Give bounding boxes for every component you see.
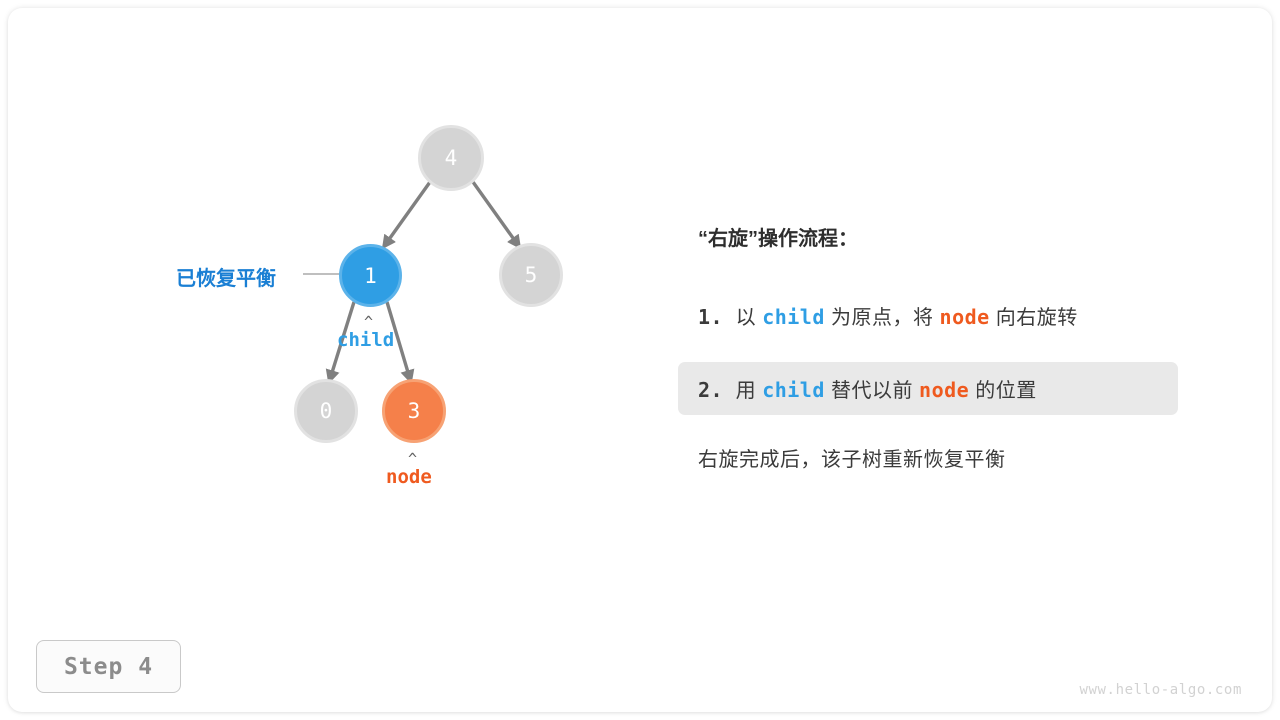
tree-node-0-value: 0 [320,399,333,423]
screenshot-canvas: 4 5 1 0 3 已恢复平衡 ^ child ^ node “右旋”操作流程：… [0,0,1280,720]
tree-node-5-value: 5 [525,263,538,287]
tree-node-3-value: 3 [408,399,421,423]
tree-node-1-value: 1 [364,264,377,288]
step-item-1-part-2: child [762,305,825,329]
balanced-annotation-label: 已恢复平衡 [176,262,276,291]
tree-node-1[interactable]: 1 [339,244,402,307]
tree-node-3[interactable]: 3 [382,379,446,443]
step-badge-label: Step 4 [64,654,153,680]
explanation-panel: “右旋”操作流程： 1. 以 child 为原点，将 node 向右旋转2. 用… [678,222,1178,472]
tree-node-4-value: 4 [445,146,458,170]
step-item-1: 1. 以 child 为原点，将 node 向右旋转 [678,289,1178,342]
watermark: www.hello-algo.com [1079,682,1242,698]
child-pointer-label: child [337,329,394,351]
step-item-2-index: 2. [698,378,736,402]
step-item-1-index: 1. [698,305,736,329]
tree-node-5[interactable]: 5 [499,243,563,307]
step-badge: Step 4 [36,640,181,693]
step-item-1-part-1: 以 [736,307,763,329]
step-item-1-part-4: node [940,305,990,329]
step-item-2: 2. 用 child 替代以前 node 的位置 [678,362,1178,415]
tree-node-4[interactable]: 4 [418,125,484,191]
tree-node-0[interactable]: 0 [294,379,358,443]
step-item-2-part-5: 的位置 [969,380,1037,402]
step-item-2-part-1: 用 [736,380,763,402]
steps-list: 1. 以 child 为原点，将 node 向右旋转2. 用 child 替代以… [678,289,1178,415]
node-pointer-label: node [386,466,432,488]
panel-title: “右旋”操作流程： [698,222,1178,251]
step-item-2-part-4: node [919,378,969,402]
panel-note: 右旋完成后，该子树重新恢复平衡 [698,443,1178,472]
step-item-2-part-3: 替代以前 [825,380,919,402]
step-item-2-part-2: child [762,378,825,402]
step-item-1-part-3: 为原点，将 [825,307,940,329]
step-item-1-part-5: 向右旋转 [990,307,1078,329]
